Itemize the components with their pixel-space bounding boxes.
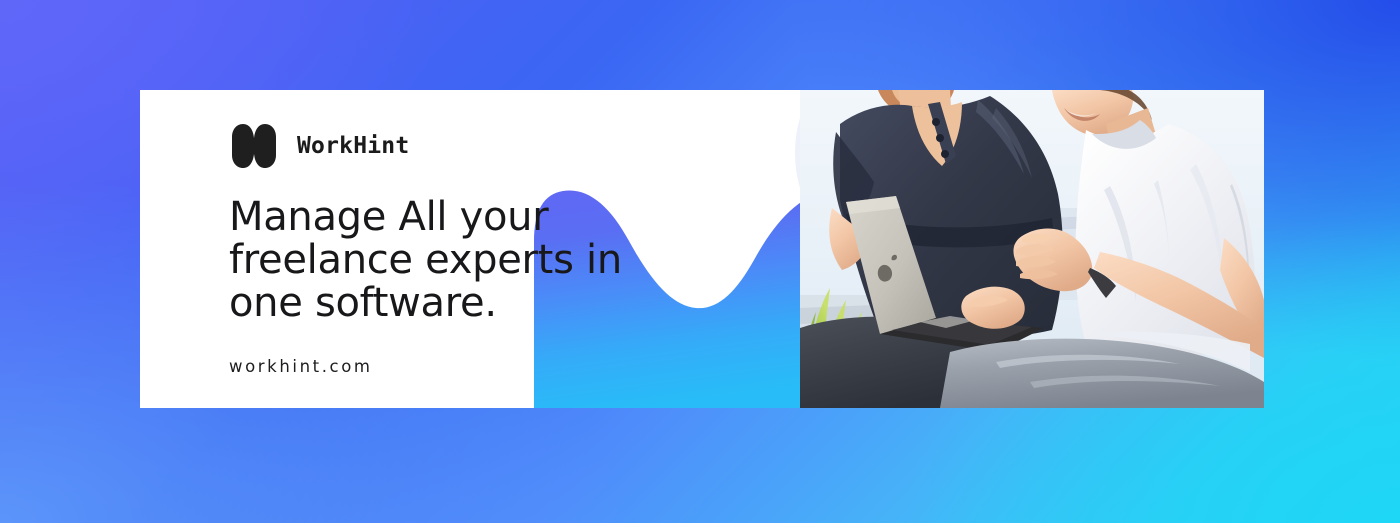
headline: Manage All your freelance experts in one… bbox=[229, 196, 659, 324]
team-photo bbox=[800, 90, 1264, 408]
banner-screenshot: WorkHint Manage All your freelance exper… bbox=[0, 0, 1400, 523]
banner-card: WorkHint Manage All your freelance exper… bbox=[140, 90, 1264, 408]
workhint-bowtie-logo-icon bbox=[229, 121, 279, 171]
website-url: workhint.com bbox=[229, 357, 659, 376]
team-photo-illustration bbox=[800, 90, 1264, 408]
banner-content: WorkHint Manage All your freelance exper… bbox=[229, 118, 659, 376]
brand-name: WorkHint bbox=[297, 133, 409, 159]
brand-lockup: WorkHint bbox=[229, 118, 659, 174]
